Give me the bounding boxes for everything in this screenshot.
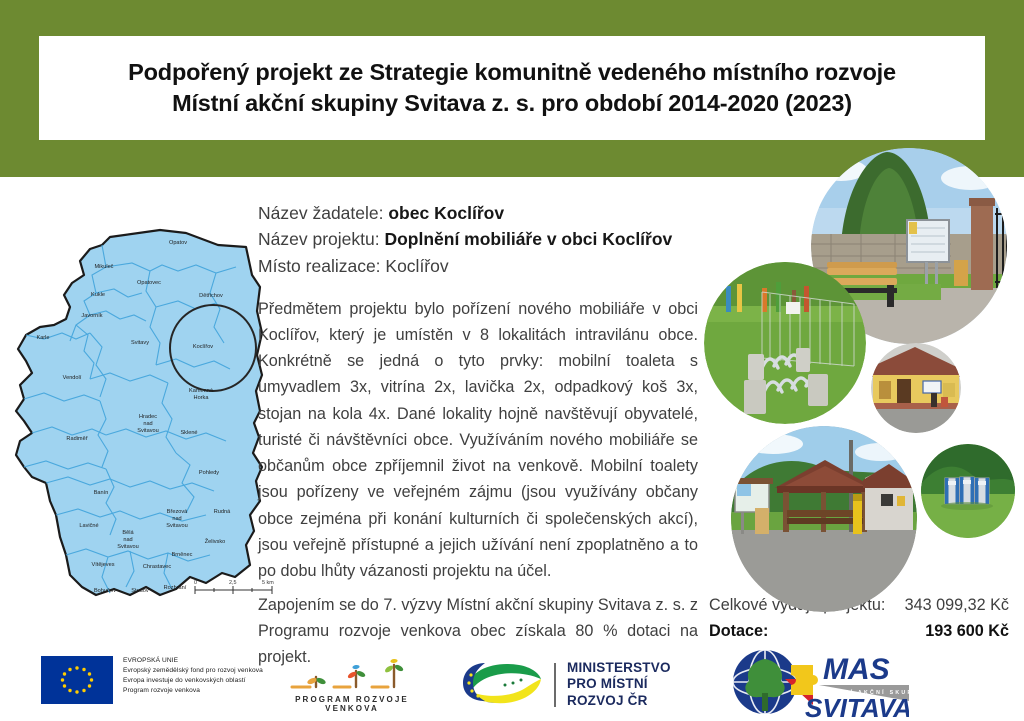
subsidy-row: Dotace: 193 600 Kč: [709, 618, 1009, 644]
eu-text-line-4: Program rozvoje venkova: [123, 686, 263, 696]
map-label-mikuleč: Mikuleč: [95, 264, 114, 270]
eu-logo: EVROPSKÁ UNIE Evropský zemědělský fond p…: [41, 656, 263, 704]
applicant-value: obec Koclířov: [388, 203, 504, 223]
prv-logo: PROGRAM ROZVOJE VENKOVA: [272, 657, 432, 713]
map-label-rudná: Rudná: [214, 509, 231, 515]
applicant-label: Název žadatele:: [258, 203, 388, 223]
mas-wordmark-svitava: SVITAVA: [805, 693, 909, 719]
mmr-text-line-3: ROZVOJ ČR: [567, 693, 671, 709]
map-svg: OpatovMikulečOpatovecKukleDětřichovJavor…: [10, 215, 270, 605]
map-label-vendolí: Vendolí: [63, 375, 82, 381]
mmr-text-line-2: PRO MÍSTNÍ: [567, 676, 671, 692]
scale-tick-mid: 2,5: [229, 580, 237, 586]
photo-bus-stop: [871, 343, 961, 433]
prv-caption: PROGRAM ROZVOJE VENKOVA: [272, 695, 432, 713]
mmr-logo: MINISTERSTVO PRO MÍSTNÍ ROZVOJ ČR: [461, 657, 671, 712]
map-label-opatov: Opatov: [169, 240, 187, 246]
place-label: Místo realizace:: [258, 256, 385, 276]
map-label-javorník: Javorník: [81, 313, 102, 319]
place-value: Koclířov: [385, 256, 448, 276]
map-label-koclířov: Koclířov: [193, 344, 213, 350]
eu-text-line-3: Evropa investuje do venkovských oblastí: [123, 676, 263, 686]
mmr-emblem-icon: [461, 657, 543, 712]
map-label-brněnec: Brněnec: [172, 552, 193, 558]
photo-mobile-toilets: [921, 444, 1015, 538]
map-label-svitavy: Svitavy: [131, 340, 149, 346]
title-box: Podpořený projekt ze Strategie komunitně…: [39, 36, 985, 140]
project-description: Předmětem projektu bylo pořízení nového …: [258, 296, 698, 585]
map-label-chrastavec: Chrastavec: [143, 564, 171, 570]
photo-bike-racks: [704, 262, 866, 424]
page-title-line-2: Místní akční skupiny Svitava z. s. pro o…: [172, 88, 852, 119]
total-expenses-value: 343 099,32 Kč: [905, 592, 1009, 618]
scale-tick-0: 0: [194, 580, 197, 586]
applicant-line: Název žadatele: obec Koclířov: [258, 200, 698, 226]
eu-text-line-2: Evropský zemědělský fond pro rozvoj venk…: [123, 666, 263, 676]
subsidy-value: 193 600 Kč: [925, 618, 1009, 644]
place-line: Místo realizace: Koclířov: [258, 253, 698, 279]
map-label-lavičné: Lavičné: [79, 523, 98, 529]
mas-svitava-logo: MAS MÍSTNÍ AKČNÍ SKUPINA SVITAVA: [719, 649, 909, 719]
map-label-opatovec: Opatovec: [137, 280, 161, 286]
photo-shelter: [731, 426, 917, 612]
map-label-kukle: Kukle: [91, 292, 105, 298]
project-name-line: Název projektu: Doplnění mobiliáře v obc…: [258, 226, 698, 252]
map-label-dětřichov: Dětřichov: [199, 293, 223, 299]
map-label-bohuňov: Bohuňov: [94, 588, 116, 594]
poster-root: Podpořený projekt ze Strategie komunitně…: [0, 0, 1024, 721]
subsidy-label: Dotace:: [709, 618, 768, 644]
map-label-radiměř: Radiměř: [66, 436, 87, 442]
prv-sprout-icon: [272, 657, 432, 695]
map-label-pohledy: Pohledy: [199, 470, 219, 476]
project-value: Doplnění mobiliáře v obci Koclířov: [384, 229, 672, 249]
page-title-line-1: Podpořený projekt ze Strategie komunitně…: [128, 57, 896, 88]
region-map: OpatovMikulečOpatovecKukleDětřichovJavor…: [10, 215, 270, 605]
mas-wordmark-mas: MAS: [823, 653, 890, 686]
map-label-sklené: Sklené: [180, 430, 197, 436]
eu-text-line-1: EVROPSKÁ UNIE: [123, 656, 263, 666]
map-label-vítějeves: Vítějeves: [91, 562, 114, 568]
map-label-banín: Banín: [94, 490, 109, 496]
eu-logo-text: EVROPSKÁ UNIE Evropský zemědělský fond p…: [123, 656, 263, 696]
project-label: Název projektu:: [258, 229, 384, 249]
mmr-divider: [554, 663, 556, 707]
map-label-karle: Karle: [36, 335, 49, 341]
mmr-logo-text: MINISTERSTVO PRO MÍSTNÍ ROZVOJ ČR: [567, 660, 671, 709]
logo-strip: EVROPSKÁ UNIE Evropský zemědělský fond p…: [0, 645, 1024, 721]
map-label-želivsko: Želivsko: [205, 537, 226, 545]
map-label-studov: Studov: [131, 588, 149, 594]
map-label-rozhraní: Rozhraní: [164, 585, 187, 591]
project-text-column: Název žadatele: obec Koclířov Název proj…: [258, 200, 698, 584]
eu-flag-icon: [41, 656, 113, 704]
mas-emblem-icon: MAS MÍSTNÍ AKČNÍ SKUPINA SVITAVA: [719, 649, 909, 719]
mmr-text-line-1: MINISTERSTVO: [567, 660, 671, 676]
